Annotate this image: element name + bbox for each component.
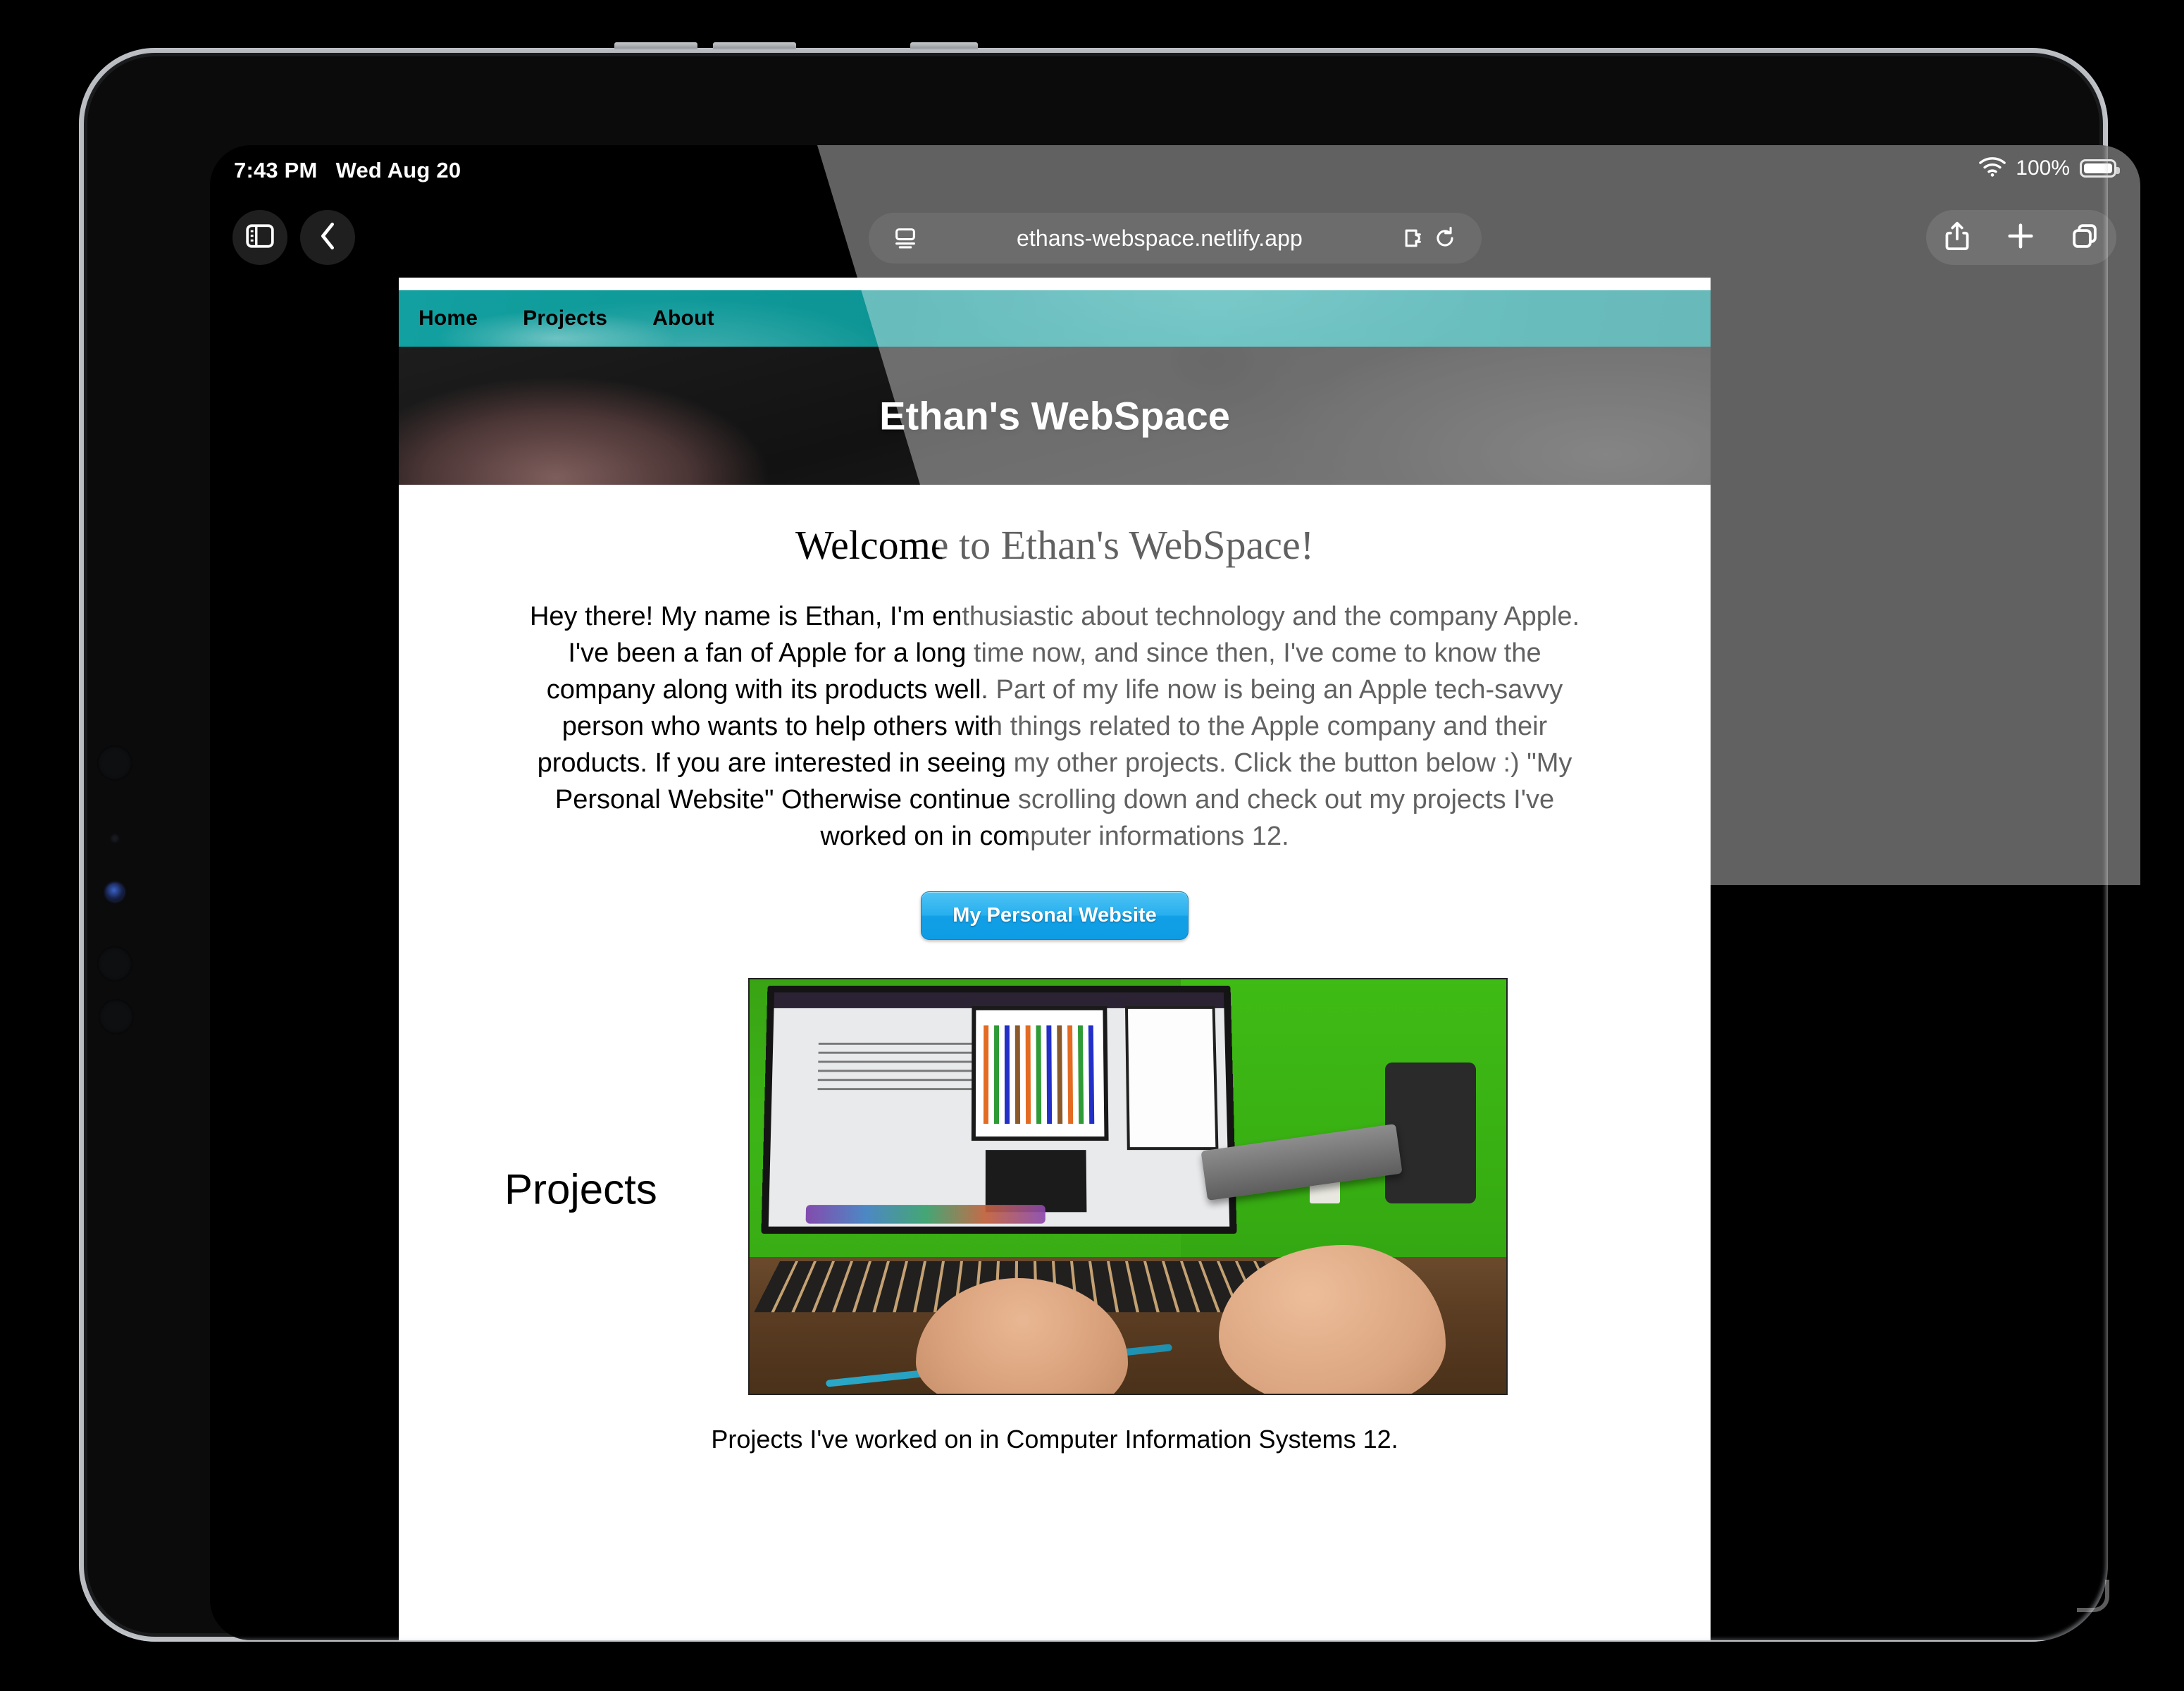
lidar-sensor — [97, 946, 132, 981]
toolbar-actions — [1926, 210, 2116, 265]
hero-banner: Ethan's WebSpace — [399, 347, 1711, 485]
power-button[interactable] — [910, 42, 978, 49]
wifi-icon — [1979, 157, 2006, 180]
screenshot-canvas: 7:43 PM Wed Aug 20 100% — [0, 0, 2184, 1691]
safari-toolbar: ethans-webspace.netlify.app — [210, 200, 2140, 278]
bezel-corner-highlight — [2077, 1580, 2109, 1612]
nav-link-projects[interactable]: Projects — [523, 306, 607, 330]
status-time: 7:43 PM — [234, 158, 318, 183]
settings-panel — [986, 1151, 1087, 1213]
chevron-left-icon — [317, 222, 338, 254]
ethernet-wire-colors — [984, 1025, 1096, 1124]
laptop-screen — [762, 986, 1237, 1234]
site-navigation-bar: Home Projects About — [399, 290, 1711, 347]
nav-link-home[interactable]: Home — [418, 306, 478, 330]
share-button[interactable] — [1943, 221, 1971, 255]
battery-full-icon — [2080, 159, 2116, 178]
cta-wrapper: My Personal Website — [441, 891, 1668, 940]
my-personal-website-button[interactable]: My Personal Website — [921, 891, 1189, 940]
right-document-window — [1125, 1006, 1219, 1150]
intro-paragraph: Hey there! My name is Ethan, I'm enthusi… — [516, 598, 1594, 855]
page-content: Welcome to Ethan's WebSpace! Hey there! … — [399, 485, 1711, 1454]
ipad-screen: 7:43 PM Wed Aug 20 100% — [210, 145, 2140, 1640]
tabs-overview-button[interactable] — [2070, 221, 2099, 254]
sidebar-toggle-button[interactable] — [232, 210, 287, 265]
sidebar-toggle-icon — [246, 224, 274, 252]
chair-object — [1385, 1063, 1476, 1203]
puzzle-extension-icon[interactable] — [1398, 226, 1429, 250]
nav-link-about[interactable]: About — [652, 306, 714, 330]
welcome-heading: Welcome to Ethan's WebSpace! — [441, 521, 1668, 569]
nav-links: Home Projects About — [418, 290, 714, 347]
projects-caption: Projects I've worked on in Computer Info… — [441, 1425, 1668, 1454]
ambient-light-sensor — [99, 999, 134, 1034]
rear-camera-lens — [97, 745, 132, 781]
page-settings-icon[interactable] — [890, 226, 921, 250]
volume-button-down[interactable] — [713, 42, 796, 49]
website-body: Home Projects About Ethan's WebSpace Wel… — [399, 278, 1711, 1640]
wiring-diagram-window — [972, 1006, 1109, 1141]
address-bar[interactable]: ethans-webspace.netlify.app — [869, 213, 1482, 264]
status-bar-right: 100% — [1979, 156, 2116, 180]
back-button[interactable] — [300, 210, 355, 265]
ios-status-bar: 7:43 PM Wed Aug 20 100% — [210, 145, 2140, 200]
ipad-device-frame: 7:43 PM Wed Aug 20 100% — [79, 48, 2108, 1642]
reload-icon[interactable] — [1429, 226, 1460, 250]
battery-percent: 100% — [2016, 156, 2070, 180]
web-page-viewport: Home Projects About Ethan's WebSpace Wel… — [210, 278, 2140, 1640]
new-tab-button[interactable] — [2006, 221, 2035, 254]
notes-text-lines — [817, 1043, 981, 1094]
url-text[interactable]: ethans-webspace.netlify.app — [921, 225, 1398, 252]
status-date: Wed Aug 20 — [336, 158, 461, 183]
projects-heading: Projects — [504, 1165, 657, 1214]
projects-section: Projects — [441, 978, 1668, 1401]
microphone-hole — [110, 834, 120, 843]
status-bar-left: 7:43 PM Wed Aug 20 — [234, 158, 461, 183]
volume-button-up[interactable] — [614, 42, 697, 49]
front-camera-lens — [106, 883, 124, 901]
project-video-thumbnail[interactable] — [748, 978, 1508, 1395]
hero-title: Ethan's WebSpace — [399, 393, 1711, 439]
